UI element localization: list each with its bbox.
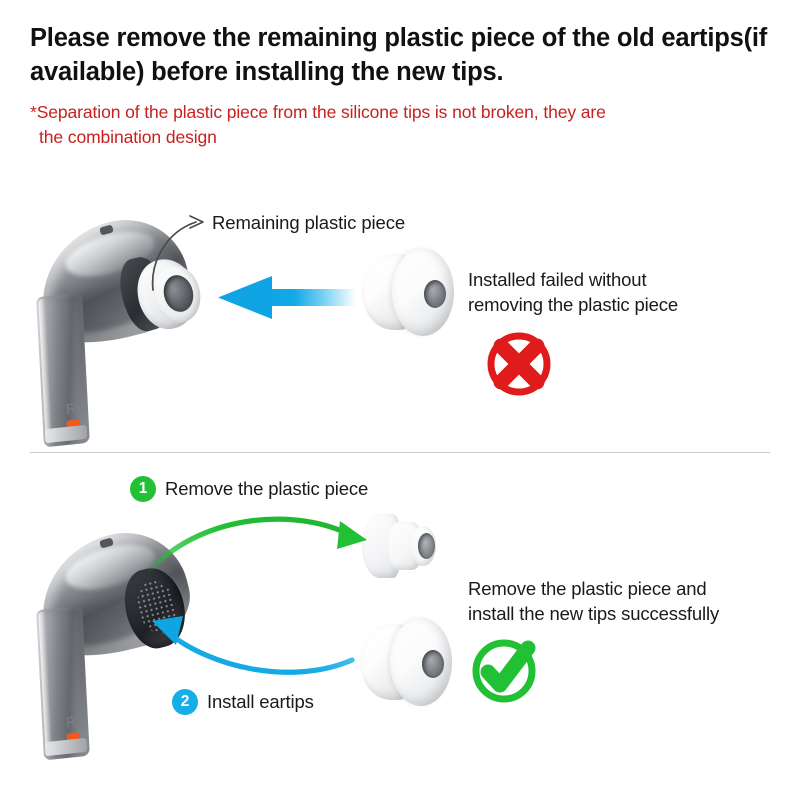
red-x-circle-icon xyxy=(491,336,547,392)
failure-result-line-2: removing the plastic piece xyxy=(468,294,678,315)
step-1-number: 1 xyxy=(139,481,148,497)
earbud-right-channel-label: R xyxy=(65,400,78,418)
failure-result-line-1: Installed failed without xyxy=(468,269,646,290)
eartip-bore xyxy=(424,280,446,308)
eartip-bore xyxy=(422,650,444,678)
step-1-label: Remove the plastic piece xyxy=(165,478,368,500)
earbud-right-channel-label: R xyxy=(65,713,78,731)
step-2-label: Install eartips xyxy=(207,691,314,713)
failure-result-text: Installed failed without removing the pl… xyxy=(468,267,798,317)
earbud-bare-mesh: R xyxy=(30,528,220,768)
success-result-line-2: install the new tips successfully xyxy=(468,603,719,624)
header-block: Please remove the remaining plastic piec… xyxy=(30,22,775,150)
step-2-badge: 2 xyxy=(172,689,198,715)
success-result-text: Remove the plastic piece and install the… xyxy=(468,576,788,626)
green-check-circle-icon xyxy=(476,643,532,699)
step-2-number: 2 xyxy=(181,694,190,710)
earbud-with-plastic-ring: R xyxy=(30,215,220,455)
step-1-badge: 1 xyxy=(130,476,156,502)
section-divider xyxy=(30,452,770,453)
plastic-piece-bore xyxy=(418,533,435,559)
note-line-1: *Separation of the plastic piece from th… xyxy=(30,102,606,122)
page-title: Please remove the remaining plastic piec… xyxy=(30,22,775,90)
callout-label-remaining-plastic-piece: Remaining plastic piece xyxy=(212,212,405,234)
note-text: *Separation of the plastic piece from th… xyxy=(30,90,775,150)
note-line-2: the combination design xyxy=(30,125,775,150)
success-result-line-1: Remove the plastic piece and xyxy=(468,578,707,599)
instruction-diagram-page: Please remove the remaining plastic piec… xyxy=(0,0,800,800)
blue-straight-arrow-left-icon xyxy=(218,276,356,319)
